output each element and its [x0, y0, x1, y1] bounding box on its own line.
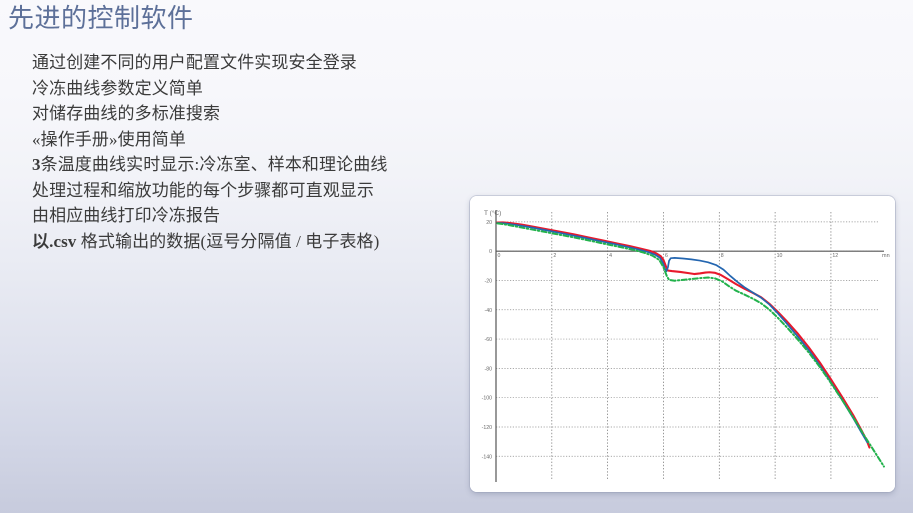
y-tick-label: -60	[485, 337, 493, 343]
chart-card: 200-20-40-60-80-100-120-140024681012 T (…	[470, 196, 895, 492]
bullet-list: 通过创建不同的用户配置文件实现安全登录冷冻曲线参数定义简单对储存曲线的多标准搜索…	[32, 50, 452, 254]
chart-y-axis-label: T (°C)	[484, 209, 501, 217]
chart-image: 200-20-40-60-80-100-120-140024681012 T (…	[470, 196, 895, 492]
bullet-item: 以.csv 格式输出的数据(逗号分隔值 / 电子表格)	[32, 229, 452, 255]
bullet-text: «操作手册»使用简单	[32, 130, 186, 149]
bullet-bold-prefix: 以.csv	[32, 232, 76, 251]
bullet-item: 处理过程和缩放功能的每个步骤都可直观显示	[32, 178, 452, 204]
y-tick-label: -80	[485, 366, 493, 372]
x-tick-label: 8	[721, 253, 724, 259]
bullet-item: 3条温度曲线实时显示:冷冻室、样本和理论曲线	[32, 152, 452, 178]
bullet-text: 对储存曲线的多标准搜索	[32, 104, 220, 123]
x-tick-label: 10	[777, 253, 783, 259]
bullet-text: 格式输出的数据(逗号分隔值 / 电子表格)	[76, 232, 379, 251]
x-tick-label: 0	[498, 253, 501, 259]
y-tick-label: 20	[486, 220, 492, 226]
x-tick-label: 2	[553, 253, 556, 259]
bullet-item: 由相应曲线打印冷冻报告	[32, 203, 452, 229]
bullet-text: 由相应曲线打印冷冻报告	[32, 206, 220, 225]
x-tick-label: 6	[665, 253, 668, 259]
x-tick-label: 4	[609, 253, 612, 259]
bullet-item: 通过创建不同的用户配置文件实现安全登录	[32, 50, 452, 76]
chart-x-axis-label: mn	[882, 253, 890, 259]
x-tick-label: 12	[832, 253, 838, 259]
freezing-curve-chart: 200-20-40-60-80-100-120-140024681012 T (…	[470, 196, 895, 492]
y-tick-label: -100	[482, 396, 492, 402]
y-tick-label: -40	[485, 308, 493, 314]
page-title: 先进的控制软件	[8, 2, 194, 36]
bullet-text: 冷冻曲线参数定义简单	[32, 79, 203, 98]
bullet-text: 通过创建不同的用户配置文件实现安全登录	[32, 53, 357, 72]
y-tick-label: -120	[482, 425, 492, 431]
y-tick-label: -20	[485, 278, 493, 284]
bullet-item: 冷冻曲线参数定义简单	[32, 76, 452, 102]
y-tick-label: 0	[489, 249, 492, 255]
bullet-item: «操作手册»使用简单	[32, 127, 452, 153]
y-tick-label: -140	[482, 454, 492, 460]
bullet-text: 条温度曲线实时显示:冷冻室、样本和理论曲线	[41, 155, 388, 174]
bullet-item: 对储存曲线的多标准搜索	[32, 101, 452, 127]
bullet-text: 处理过程和缩放功能的每个步骤都可直观显示	[32, 181, 374, 200]
slide-canvas: 先进的控制软件 通过创建不同的用户配置文件实现安全登录冷冻曲线参数定义简单对储存…	[0, 0, 913, 513]
bullet-bold-prefix: 3	[32, 155, 41, 174]
